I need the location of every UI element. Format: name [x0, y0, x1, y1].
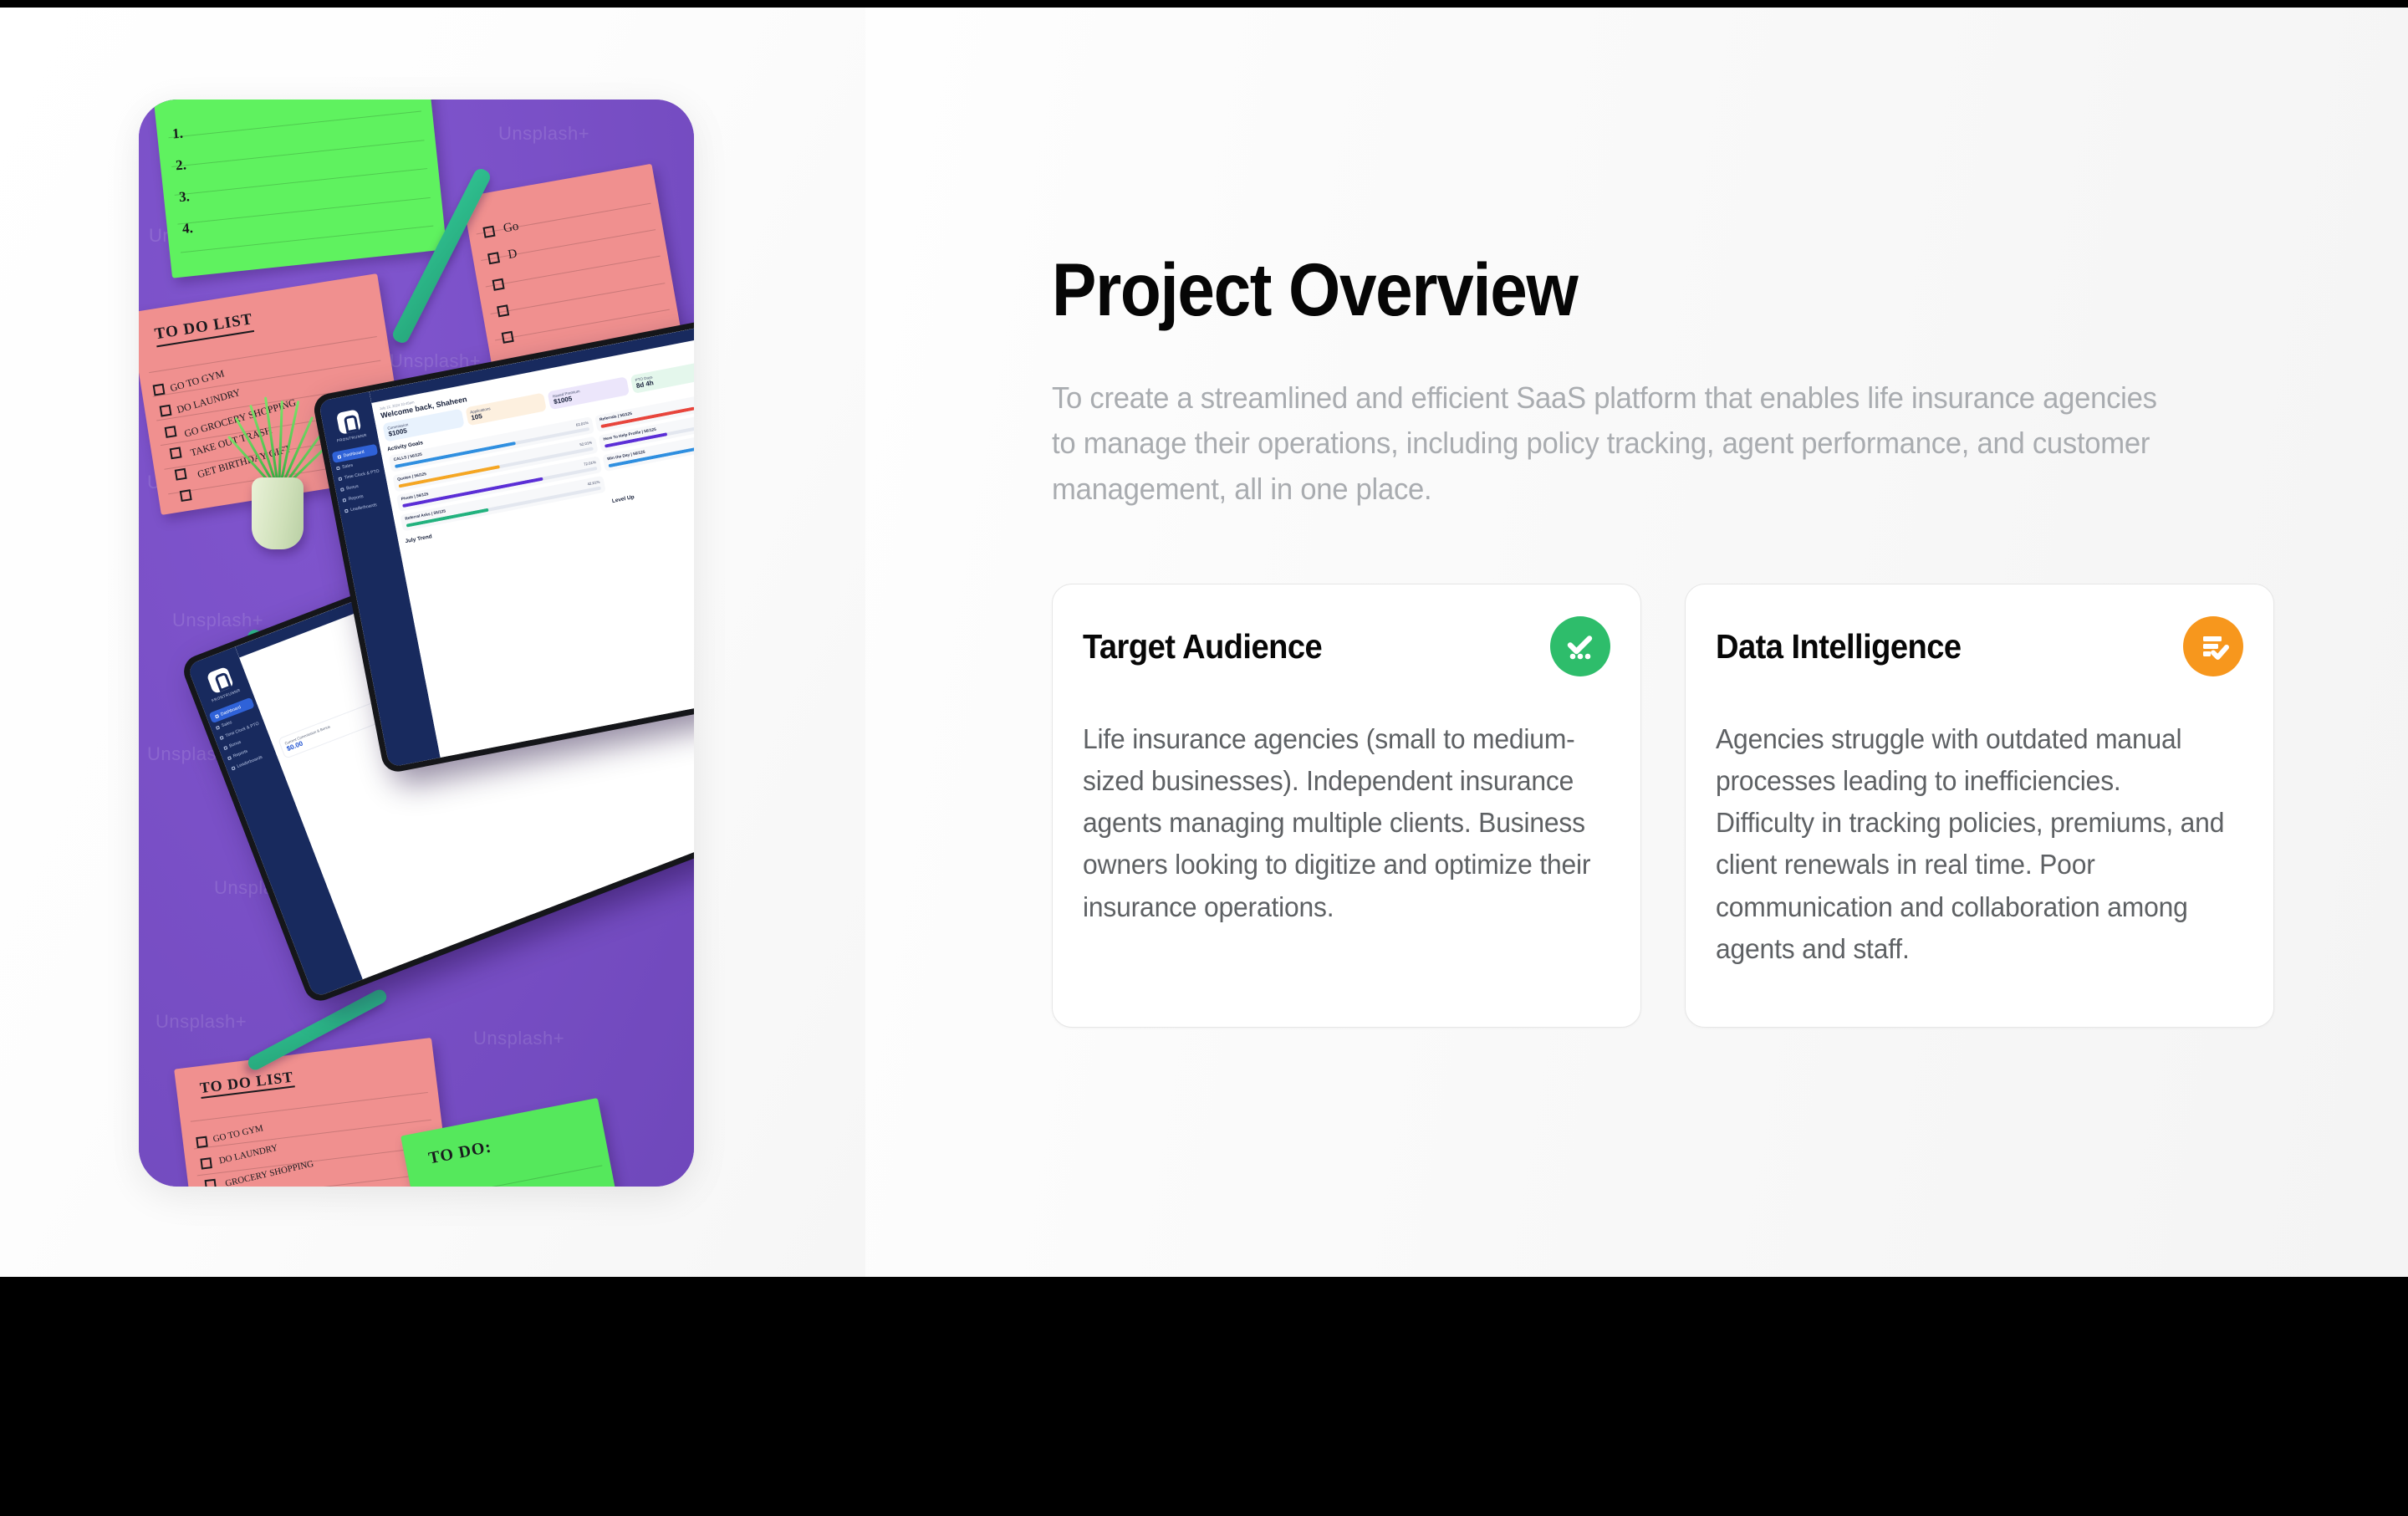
goal-name: Pivots: [401, 496, 414, 503]
card-body: Life insurance agencies (small to medium…: [1083, 718, 1592, 928]
goal-progress: 56/125: [416, 493, 429, 499]
goal-name: CALLS: [393, 456, 407, 462]
goal-percent: 42.01%: [587, 480, 600, 487]
content-column: Project Overview To create a streamlined…: [1052, 8, 2306, 1277]
card-target-audience: Target Audience Life insurance agencies …: [1052, 584, 1641, 1028]
goal-progress: 56/125: [410, 453, 422, 460]
page-title: Project Overview: [1052, 247, 1577, 333]
goal-percent: 62.01%: [575, 421, 589, 427]
goal-percent: 72.01%: [584, 460, 597, 467]
check-dots-icon: [1550, 616, 1610, 676]
sticky-note-numbered: 1. 2. 3. 4.: [154, 100, 447, 278]
desk-photo: Unsplash+ Unsplash+ Unsplash+ Unsplash+ …: [139, 100, 694, 1187]
card-title: Target Audience: [1083, 627, 1322, 666]
goal-name: Quotes: [397, 476, 411, 482]
brand-logo-icon: [336, 409, 361, 434]
goal-progress: 56/125: [414, 472, 426, 479]
media-panel: Unsplash+ Unsplash+ Unsplash+ Unsplash+ …: [0, 8, 865, 1277]
goal-progress: 56/125: [644, 428, 656, 435]
goal-progress: 56/125: [620, 412, 632, 419]
letterbox-bottom: [0, 1277, 2408, 1516]
checklist-check-icon: [2183, 616, 2243, 676]
goal-progress: 56/125: [433, 509, 446, 516]
info-card-grid: Target Audience Life insurance agencies …: [1052, 584, 2274, 1028]
goal-progress: 56/125: [633, 451, 645, 457]
card-header: Data Intelligence: [1716, 616, 2243, 676]
brand-name: FRONTRUNNR: [326, 431, 378, 445]
letterbox-top: [0, 0, 2408, 8]
plant-vase: [252, 477, 304, 549]
goal-percent: 52.01%: [579, 441, 593, 447]
note-rules: [154, 100, 447, 278]
card-title: Data Intelligence: [1716, 627, 1962, 666]
page-subtitle: To create a streamlined and efficient Sa…: [1052, 375, 2188, 512]
card-data-intelligence: Data Intelligence Agencies struggle with…: [1685, 584, 2274, 1028]
brand-logo-icon: [207, 666, 235, 695]
card-body: Agencies struggle with outdated manual p…: [1716, 718, 2225, 970]
card-header: Target Audience: [1083, 616, 1610, 676]
slide-canvas: Unsplash+ Unsplash+ Unsplash+ Unsplash+ …: [0, 8, 2408, 1277]
